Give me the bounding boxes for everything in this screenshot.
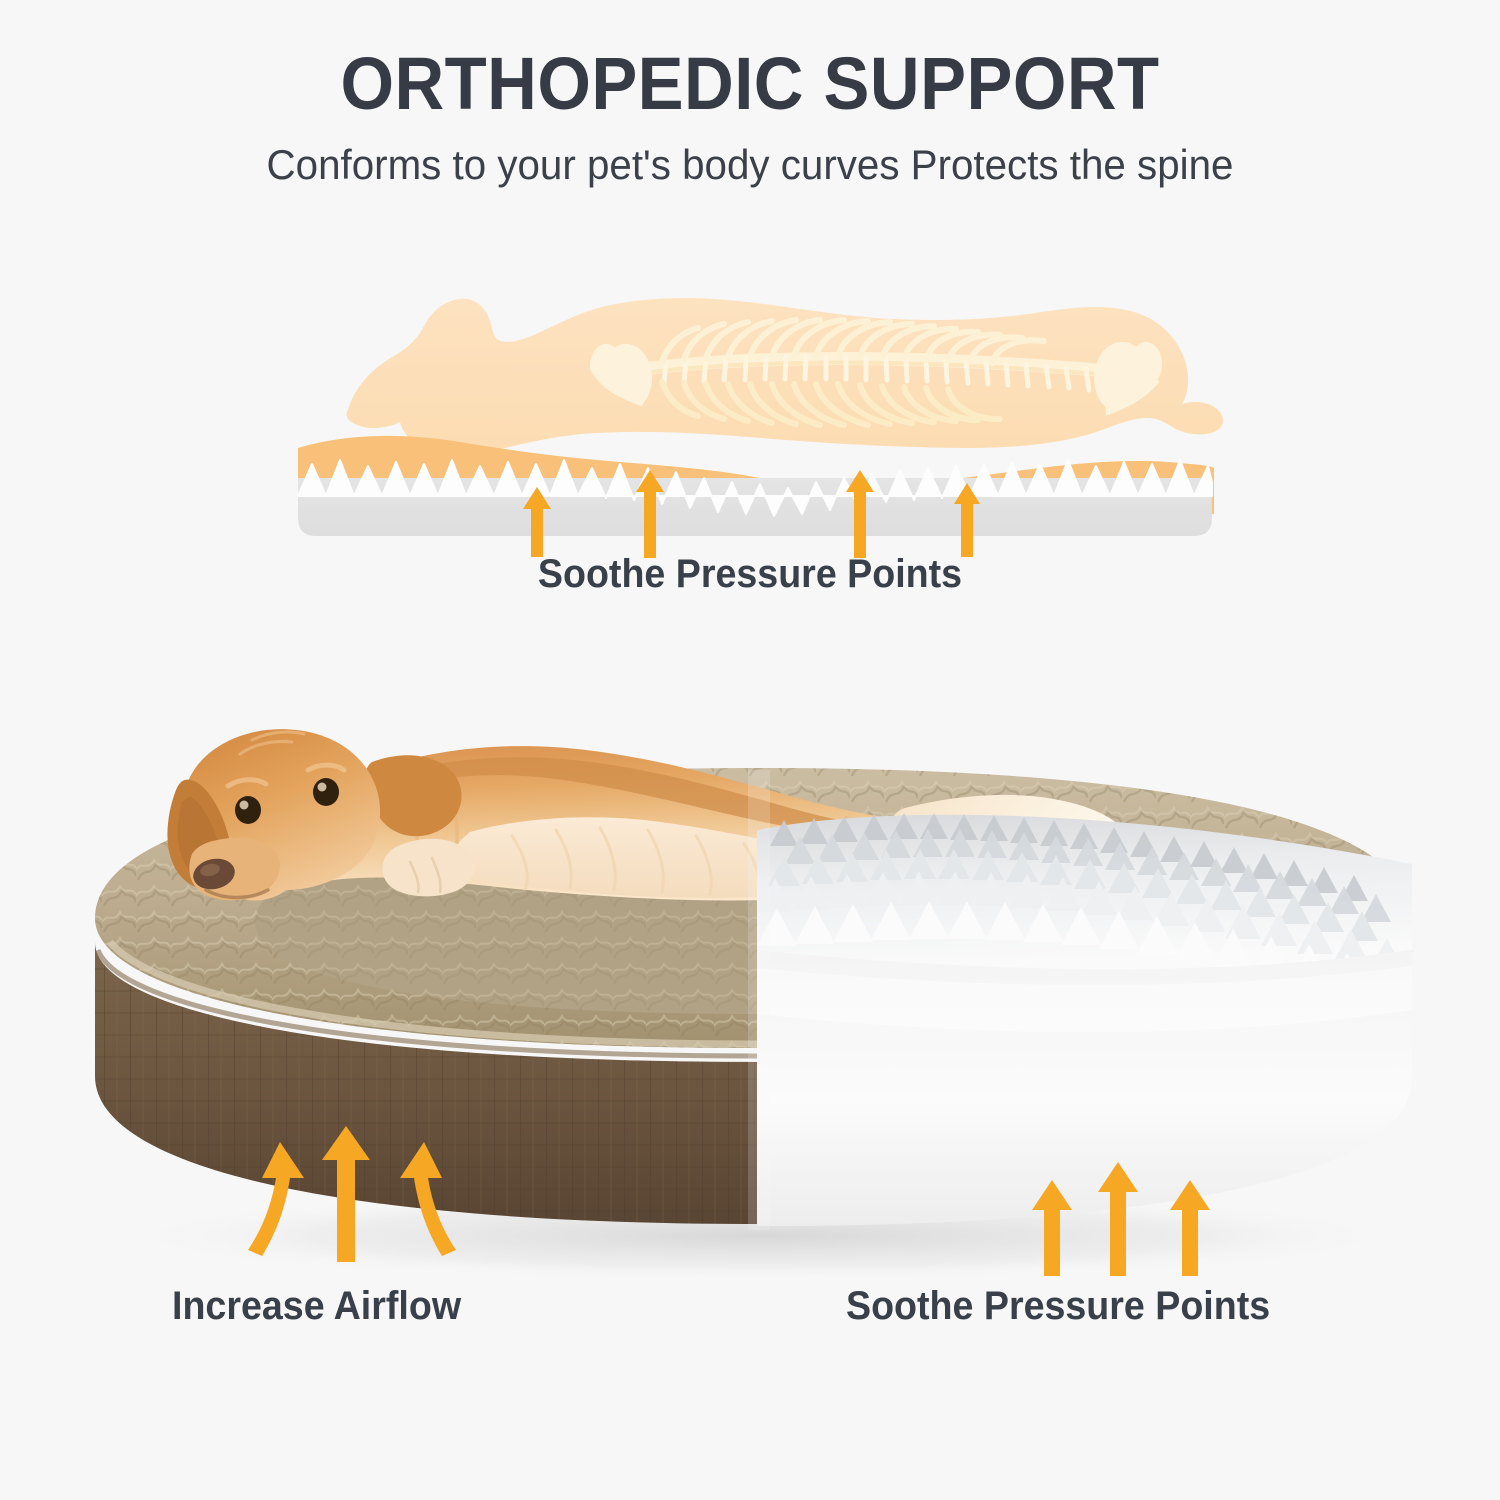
pressure-arrow-diagram bbox=[523, 487, 551, 557]
page-subtitle: Conforms to your pet's body curves Prote… bbox=[30, 141, 1470, 189]
airflow-arrow bbox=[400, 1134, 470, 1262]
pressure-arrow-photo bbox=[1098, 1162, 1138, 1276]
airflow-caption: Increase Airflow bbox=[172, 1284, 461, 1329]
dog-silhouette bbox=[347, 298, 1223, 454]
header: ORTHOPEDIC SUPPORT Conforms to your pet'… bbox=[0, 46, 1500, 189]
airflow-arrow bbox=[322, 1126, 370, 1262]
diagram-caption: Soothe Pressure Points bbox=[45, 552, 1455, 597]
pressure-arrow-diagram bbox=[954, 483, 980, 557]
product-infographic: ORTHOPEDIC SUPPORT Conforms to your pet'… bbox=[0, 0, 1500, 1500]
egg-crate-foam-cutaway bbox=[757, 813, 1412, 1226]
pressure-arrow-photo bbox=[1170, 1180, 1210, 1276]
pressure-points-caption: Soothe Pressure Points bbox=[846, 1284, 1270, 1329]
pressure-arrow-diagram bbox=[636, 470, 664, 558]
page-title: ORTHOPEDIC SUPPORT bbox=[53, 46, 1448, 121]
foam-cross-section-diagram bbox=[290, 282, 1220, 544]
pressure-arrow-photo bbox=[1032, 1180, 1072, 1276]
pressure-arrow-diagram bbox=[846, 470, 874, 558]
airflow-arrow bbox=[234, 1134, 304, 1262]
product-photo-scene bbox=[0, 650, 1500, 1290]
